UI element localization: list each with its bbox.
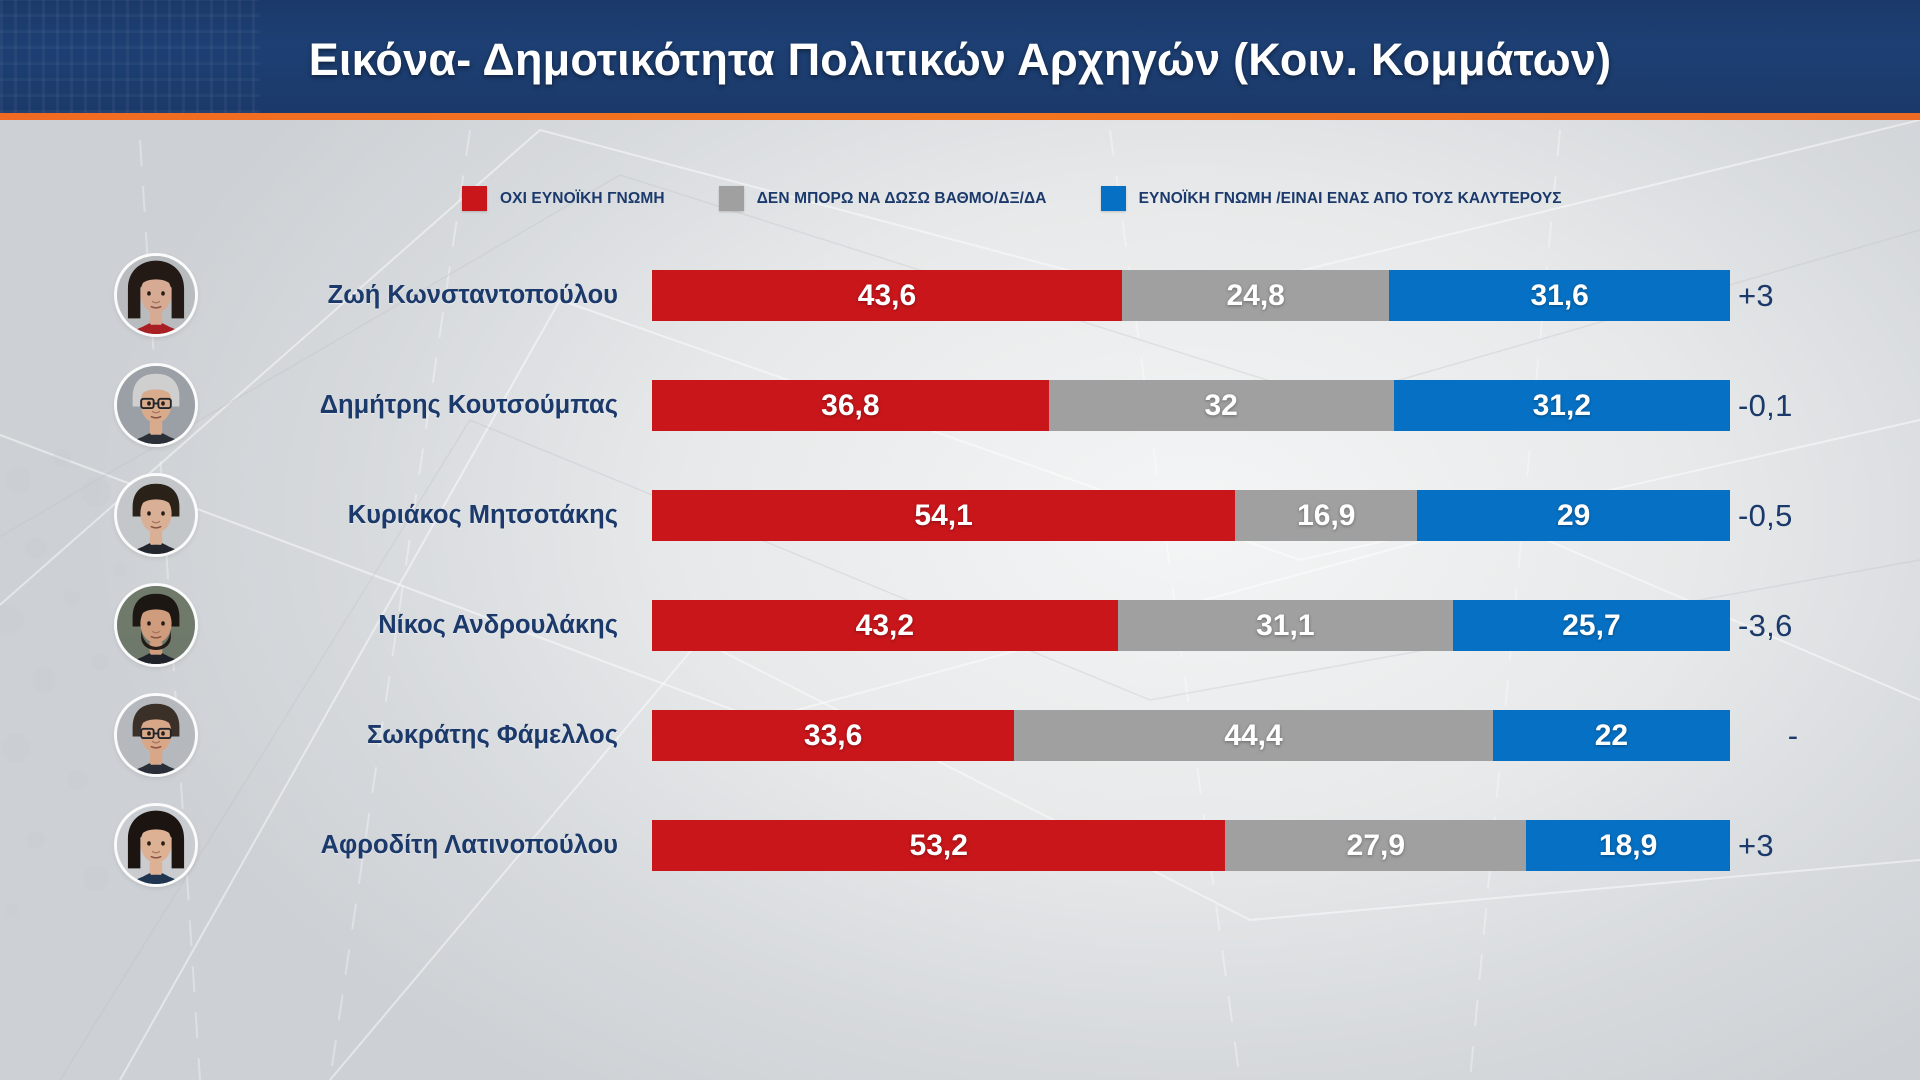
person-name: Ζωή Κωνσταντοπούλου [210, 252, 630, 338]
stacked-bar: 54,1 16,9 29 [652, 490, 1730, 541]
bar-row: Νίκος Ανδρουλάκης 43,2 31,1 25,7 -3,6 [0, 582, 1920, 668]
avatar-dimitris-koutsoumpas [117, 366, 195, 444]
stacked-bar: 33,6 44,4 22 [652, 710, 1730, 761]
stacked-bar: 53,2 27,9 18,9 [652, 820, 1730, 871]
bar-segment-favourable[interactable]: 31,6 [1389, 270, 1730, 321]
poll-graphic: Εικόνα- Δημοτικότητα Πολιτικών Αρχηγών (… [0, 0, 1920, 1080]
bar-segment-unfavourable[interactable]: 54,1 [652, 490, 1235, 541]
avatar-zoi-konstantopoulou [117, 256, 195, 334]
avatar-sokratis-famellos [117, 696, 195, 774]
person-name: Σωκράτης Φάμελλος [210, 692, 630, 778]
stacked-bar: 43,6 24,8 31,6 [652, 270, 1730, 321]
bar-row: Κυριάκος Μητσοτάκης 54,1 16,9 29 -0,5 [0, 472, 1920, 558]
bar-segment-unfavourable[interactable]: 53,2 [652, 820, 1225, 871]
person-name: Νίκος Ανδρουλάκης [210, 582, 630, 668]
bar-segment-favourable[interactable]: 29 [1417, 490, 1730, 541]
change-value: +3 [1738, 270, 1848, 321]
bar-rows: Ζωή Κωνσταντοπούλου 43,6 24,8 31,6 +3 Δη… [0, 0, 1920, 1080]
bar-row: Σωκράτης Φάμελλος 33,6 44,4 22 - [0, 692, 1920, 778]
bar-row: Αφροδίτη Λατινοπούλου 53,2 27,9 18,9 +3 [0, 802, 1920, 888]
person-name: Δημήτρης Κουτσούμπας [210, 362, 630, 448]
person-name: Κυριάκος Μητσοτάκης [210, 472, 630, 558]
person-name: Αφροδίτη Λατινοπούλου [210, 802, 630, 888]
bar-segment-favourable[interactable]: 31,2 [1394, 380, 1730, 431]
bar-segment-noopinion[interactable]: 24,8 [1122, 270, 1389, 321]
bar-segment-noopinion[interactable]: 16,9 [1235, 490, 1417, 541]
stacked-bar: 43,2 31,1 25,7 [652, 600, 1730, 651]
stacked-bar: 36,8 32 31,2 [652, 380, 1730, 431]
change-value: -0,1 [1738, 380, 1848, 431]
bar-segment-noopinion[interactable]: 27,9 [1225, 820, 1526, 871]
change-value: -3,6 [1738, 600, 1848, 651]
change-value: +3 [1738, 820, 1848, 871]
avatar-afroditi-latinopoulou [117, 806, 195, 884]
bar-row: Δημήτρης Κουτσούμπας 36,8 32 31,2 -0,1 [0, 362, 1920, 448]
bar-segment-unfavourable[interactable]: 43,6 [652, 270, 1122, 321]
bar-segment-noopinion[interactable]: 44,4 [1014, 710, 1493, 761]
avatar-kyriakos-mitsotakis [117, 476, 195, 554]
bar-segment-unfavourable[interactable]: 43,2 [652, 600, 1118, 651]
change-value: - [1738, 710, 1886, 761]
bar-segment-favourable[interactable]: 25,7 [1453, 600, 1730, 651]
change-value: -0,5 [1738, 490, 1848, 541]
bar-segment-favourable[interactable]: 22 [1493, 710, 1730, 761]
bar-segment-noopinion[interactable]: 31,1 [1118, 600, 1453, 651]
avatar-nikos-androulakis [117, 586, 195, 664]
bar-segment-unfavourable[interactable]: 36,8 [652, 380, 1049, 431]
bar-segment-unfavourable[interactable]: 33,6 [652, 710, 1014, 761]
bar-segment-noopinion[interactable]: 32 [1049, 380, 1394, 431]
bar-segment-favourable[interactable]: 18,9 [1526, 820, 1730, 871]
bar-row: Ζωή Κωνσταντοπούλου 43,6 24,8 31,6 +3 [0, 252, 1920, 338]
